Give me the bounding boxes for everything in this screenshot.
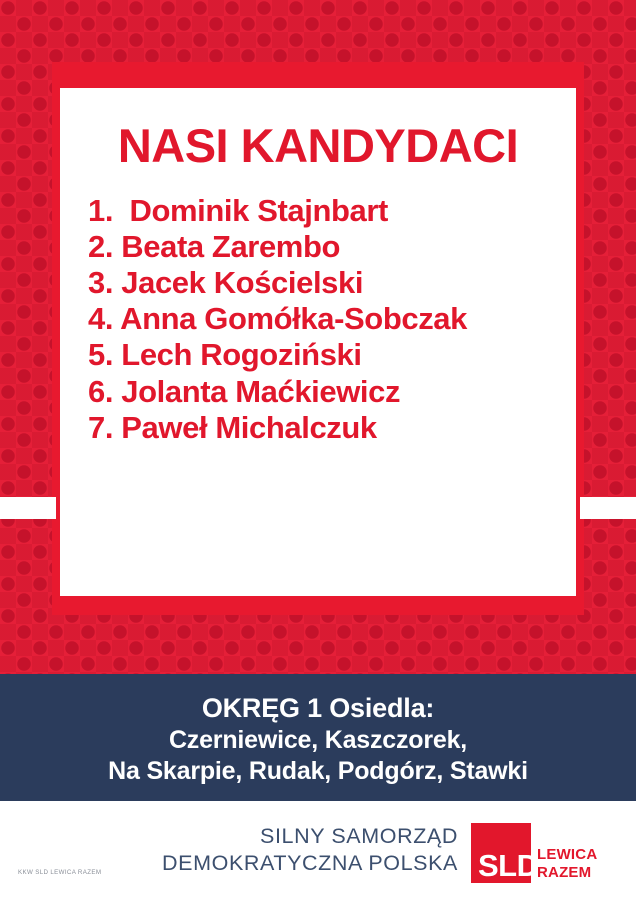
district-band: OKRĘG 1 Osiedla: Czerniewice, Kaszczorek… [0,674,636,801]
candidate-name: Jolanta Maćkiewicz [121,374,400,409]
logo-sld-text: SLD [478,850,539,881]
campaign-poster: NASI KANDYDACI 1. Dominik Stajnbart 2. B… [0,0,636,900]
candidate-number: 3. [88,265,113,300]
decorative-side-tab-right [580,497,636,519]
candidate-name: Beata Zarembo [121,229,340,264]
list-item: 1. Dominik Stajnbart [88,193,560,229]
candidate-name: Lech Rogoziński [121,337,361,372]
sld-lewica-razem-logo: SLD LEWICA RAZEM [471,823,599,883]
committee-fine-print: KKW SLD LEWICA RAZEM [18,869,101,876]
list-item: 5. Lech Rogoziński [88,337,560,373]
district-line-2: Na Skarpie, Rudak, Podgórz, Stawki [108,756,528,787]
card-content: NASI KANDYDACI 1. Dominik Stajnbart 2. B… [60,88,576,596]
candidate-name: Dominik Stajnbart [130,193,388,228]
candidate-number: 7. [88,410,113,445]
district-line-1: Czerniewice, Kaszczorek, [169,725,467,756]
list-item: 4. Anna Gomółka-Sobczak [88,301,560,337]
candidate-name: Anna Gomółka-Sobczak [120,301,467,336]
list-item: 6. Jolanta Maćkiewicz [88,374,560,410]
candidate-number: 2. [88,229,113,264]
slogan-line-2: DEMOKRATYCZNA POLSKA [148,850,458,877]
list-item: 3. Jacek Kościelski [88,265,560,301]
list-item: 2. Beata Zarembo [88,229,560,265]
candidate-name: Jacek Kościelski [121,265,363,300]
list-item: 7. Paweł Michalczuk [88,410,560,446]
logo-razem-text: RAZEM [537,865,591,880]
candidate-number: 4. [88,301,113,336]
slogan-line-1: SILNY SAMORZĄD [148,823,458,850]
district-heading: OKRĘG 1 Osiedla: [202,692,434,725]
campaign-slogan: SILNY SAMORZĄD DEMOKRATYCZNA POLSKA [148,823,458,878]
candidate-number: 6. [88,374,113,409]
candidate-name: Paweł Michalczuk [121,410,376,445]
logo-lewica-text: LEWICA [537,847,597,862]
candidate-number: 1. [88,193,113,228]
decorative-side-tab-left [0,497,56,519]
candidate-number: 5. [88,337,113,372]
page-title: NASI KANDYDACI [76,122,560,169]
candidate-list: 1. Dominik Stajnbart 2. Beata Zarembo 3.… [76,193,560,446]
